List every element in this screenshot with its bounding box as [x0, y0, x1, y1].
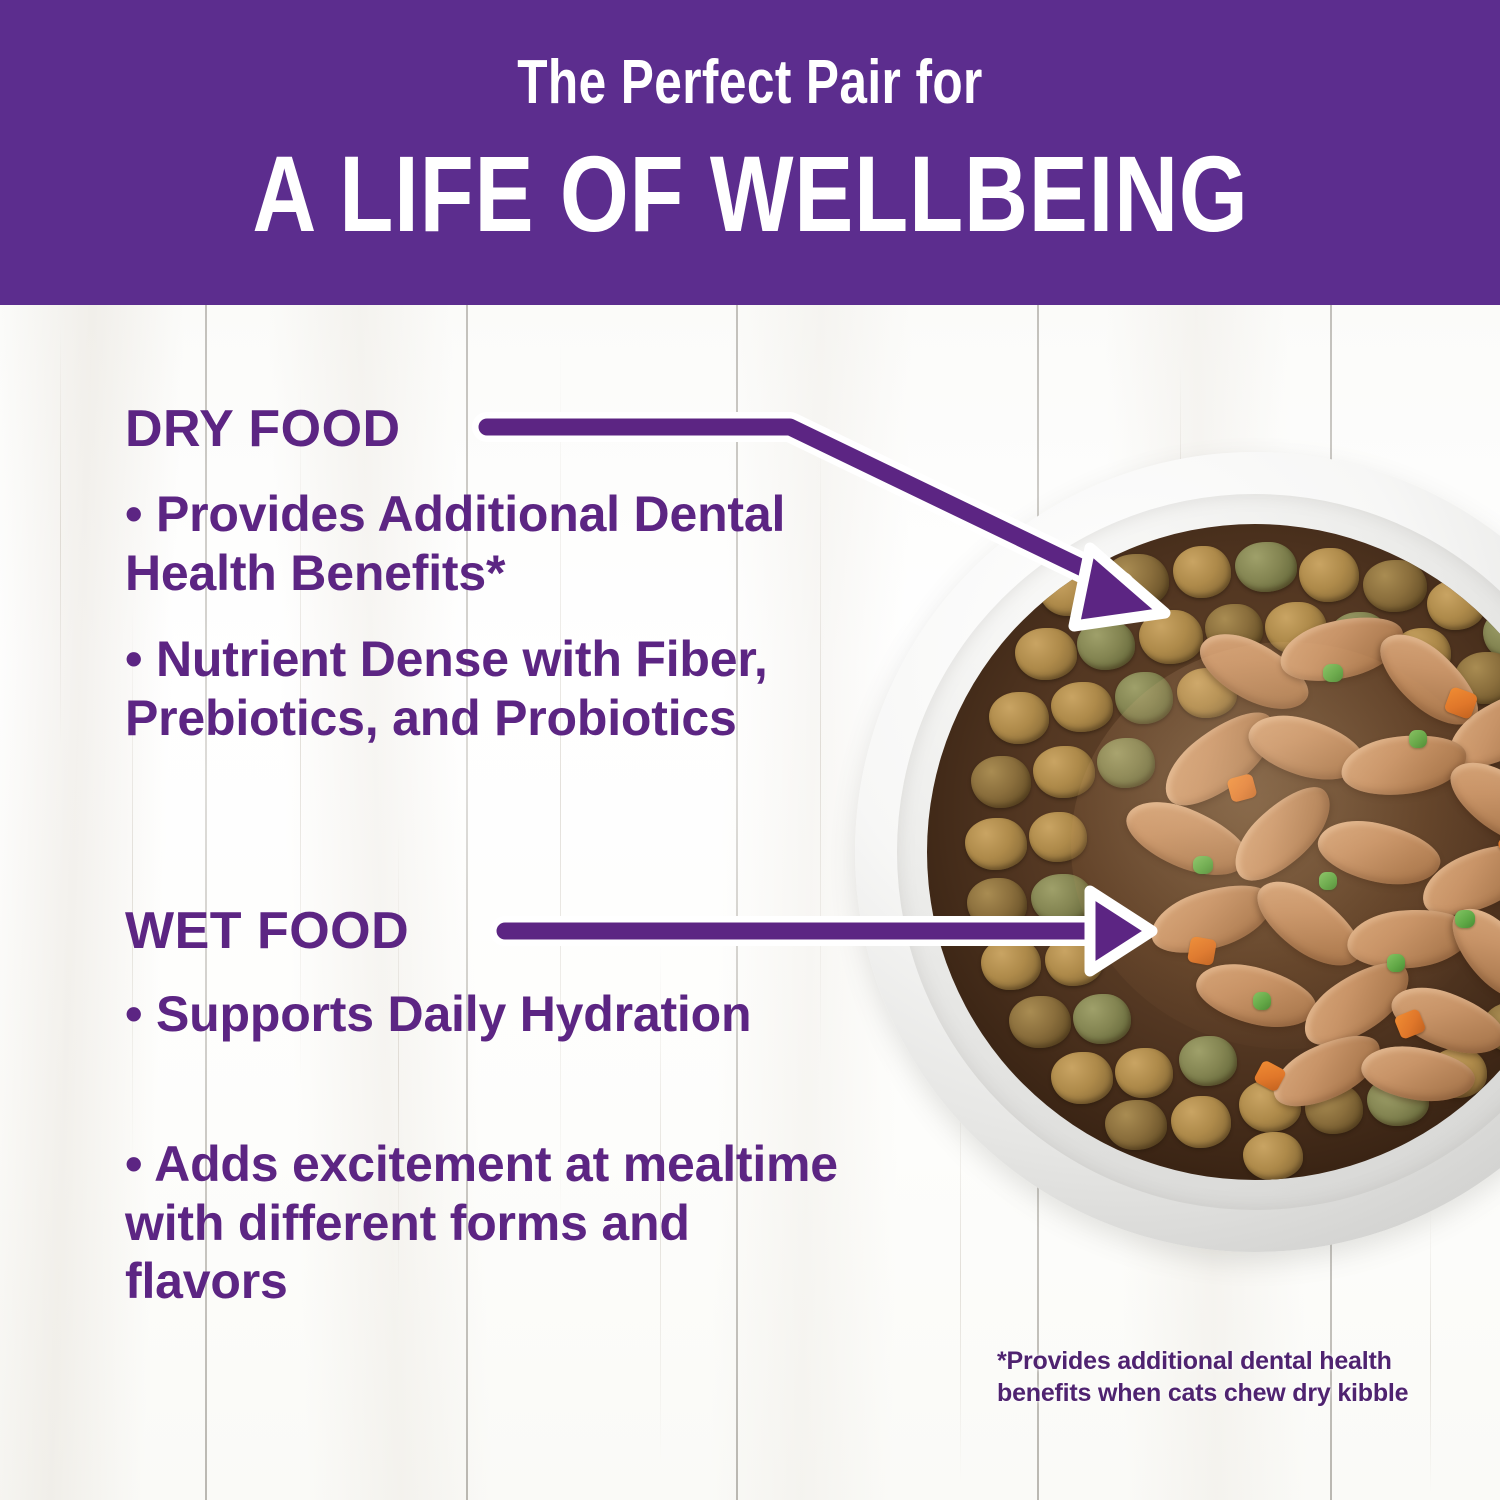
wood-grain — [60, 325, 61, 745]
bullet-dot-icon: • — [125, 631, 142, 687]
wet-food-bullet-1: • Supports Daily Hydration — [125, 985, 845, 1044]
bullet-text: Provides Additional Dental Health Benefi… — [125, 486, 785, 601]
food-bowl-photo — [855, 452, 1500, 1252]
bullet-text: Adds excitement at mealtime with differe… — [125, 1136, 838, 1309]
bullet-text: Nutrient Dense with Fiber, Prebiotics, a… — [125, 631, 768, 746]
footnote-line-2: benefits when cats chew dry kibble — [997, 1377, 1417, 1409]
dry-food-bullet-2: • Nutrient Dense with Fiber, Prebiotics,… — [125, 630, 845, 747]
dry-food-section-title: DRY FOOD — [125, 403, 401, 455]
footnote: *Provides additional dental health benef… — [997, 1345, 1417, 1409]
wet-food-bullet-2: • Adds excitement at mealtime with diffe… — [125, 1135, 845, 1311]
bullet-dot-icon: • — [125, 986, 142, 1042]
bullet-dot-icon: • — [125, 1136, 142, 1192]
footnote-line-1: *Provides additional dental health — [997, 1345, 1417, 1377]
header-band: The Perfect Pair for A LIFE OF WELLBEING — [0, 0, 1500, 305]
wood-grain — [560, 345, 561, 1245]
bullet-dot-icon: • — [125, 486, 142, 542]
promo-infographic: The Perfect Pair for A LIFE OF WELLBEING — [0, 0, 1500, 1500]
bullet-text: Supports Daily Hydration — [156, 986, 751, 1042]
dry-food-bullet-1: • Provides Additional Dental Health Bene… — [125, 485, 845, 602]
header-headline: A LIFE OF WELLBEING — [252, 140, 1248, 248]
header-eyebrow: The Perfect Pair for — [517, 52, 983, 114]
wet-food-section-title: WET FOOD — [125, 905, 409, 957]
